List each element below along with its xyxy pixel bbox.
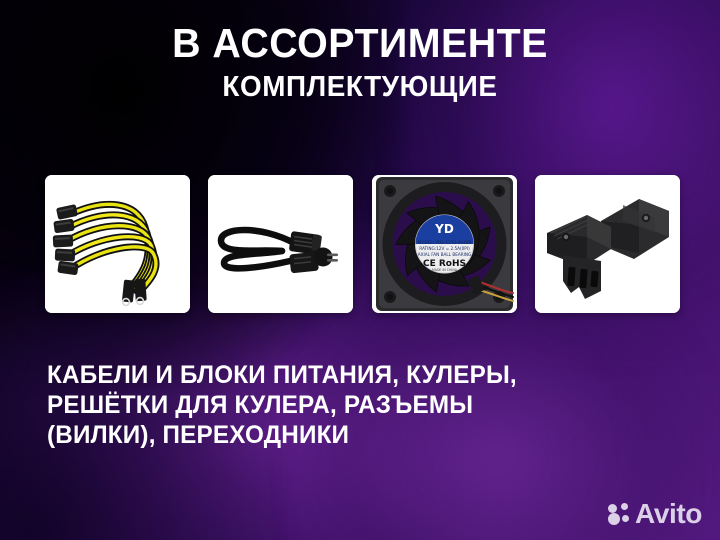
avito-listing-banner: В АССОРТИМЕНТЕ КОМПЛЕКТУЮЩИЕ [0,0,720,540]
page-title: В АССОРТИМЕНТЕ [14,20,705,66]
description-line-2: РЕШЁТКИ ДЛЯ КУЛЕРА, РАЗЪЕМЫ [47,390,648,420]
avito-watermark: Avito [608,500,702,528]
fan-origin-text: MADE IN CHINA [432,268,458,272]
product-card-power-cord-cable[interactable] [208,175,353,313]
pcie-splitter-cables-icon [45,175,190,313]
cooling-fan-icon: YD MODEL: YD1-1212-4048B RATING:12V = 2.… [372,175,517,313]
product-card-iec-connector-plugs[interactable] [535,175,680,313]
description-block: КАБЕЛИ И БЛОКИ ПИТАНИЯ, КУЛЕРЫ, РЕШЁТКИ … [47,360,667,450]
product-card-pcie-splitter-cables[interactable] [45,175,190,313]
page-subtitle: КОМПЛЕКТУЮЩИЕ [14,71,705,104]
description-line-1: КАБЕЛИ И БЛОКИ ПИТАНИЯ, КУЛЕРЫ, [47,360,648,390]
heading-block: В АССОРТИМЕНТЕ КОМПЛЕКТУЮЩИЕ [0,20,720,104]
description-line-3: (ВИЛКИ), ПЕРЕХОДНИКИ [47,420,648,450]
avito-wordmark: Avito [635,500,702,528]
product-card-row: YD MODEL: YD1-1212-4048B RATING:12V = 2.… [45,175,680,313]
fan-rating-text: RATING:12V = 2.5A(0PI) [419,246,470,251]
avito-logo-icon [608,503,631,525]
fan-type-text: AXIAL FAN BALL BEARING [417,252,471,257]
fan-model-text: MODEL: YD1-1212-4048B [417,240,471,245]
power-cord-cable-icon [208,175,353,313]
fan-brand-text: YD [434,222,454,236]
product-card-cooling-fan[interactable]: YD MODEL: YD1-1212-4048B RATING:12V = 2.… [372,175,517,313]
iec-connector-plugs-icon [535,175,680,313]
